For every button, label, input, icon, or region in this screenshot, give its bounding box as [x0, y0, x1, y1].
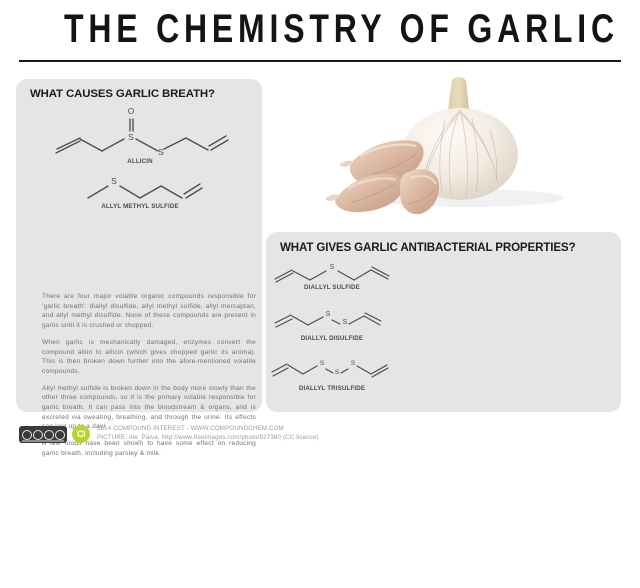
svg-text:S: S	[320, 360, 325, 367]
title-divider	[19, 60, 621, 62]
garlic-photo	[300, 70, 620, 222]
molecule-label-diallyl-sulfide: DIALLYL SULFIDE	[272, 284, 392, 291]
credit-line-2: PICTURE: Ale_Paiva, http://www.freeimage…	[97, 433, 319, 442]
panel-garlic-breath: WHAT CAUSES GARLIC BREATH? O S S ALLICIN	[16, 79, 262, 412]
panel-heading-breath: WHAT CAUSES GARLIC BREATH?	[30, 88, 215, 100]
credit-text: 2014 COMPOUND INTEREST - WWW.COMPOUNDCHE…	[97, 424, 319, 443]
credit-line-1: 2014 COMPOUND INTEREST - WWW.COMPOUNDCHE…	[97, 424, 319, 433]
breath-paragraph-2: When garlic is mechanically damaged, enz…	[42, 338, 256, 377]
molecule-label-diallyl-disulfide: DIALLYL DISULFIDE	[272, 335, 392, 342]
molecule-label-allyl-methyl-sulfide: ALLYL METHYL SULFIDE	[60, 203, 220, 210]
molecule-diallyl-disulfide: S S DIALLYL DISULFIDE	[272, 308, 392, 346]
svg-text:S: S	[326, 311, 331, 318]
molecule-allicin: O S S ALLICIN	[50, 105, 230, 167]
svg-text:S: S	[343, 319, 348, 326]
compound-interest-logo: CI	[72, 425, 90, 443]
svg-text:S: S	[128, 132, 134, 142]
creative-commons-icon	[19, 426, 67, 443]
svg-text:S: S	[335, 369, 340, 376]
page-title: THE CHEMISTRY OF GARLIC	[64, 6, 576, 52]
molecule-diallyl-sulfide: S DIALLYL SULFIDE	[272, 259, 392, 297]
panel-heading-antibacterial: WHAT GIVES GARLIC ANTIBACTERIAL PROPERTI…	[280, 241, 575, 254]
molecule-label-diallyl-trisulfide: DIALLYL TRISULFIDE	[269, 385, 395, 392]
molecule-label-allicin: ALLICIN	[50, 158, 230, 165]
svg-text:S: S	[330, 264, 335, 271]
page-header: THE CHEMISTRY OF GARLIC	[0, 6, 640, 52]
svg-text:S: S	[351, 360, 356, 367]
svg-text:S: S	[111, 176, 117, 186]
svg-text:O: O	[128, 106, 135, 116]
breath-paragraph-1: There are four major volatile organic co…	[42, 292, 256, 331]
panel-antibacterial: WHAT GIVES GARLIC ANTIBACTERIAL PROPERTI…	[266, 232, 621, 412]
molecule-diallyl-trisulfide: S S S DIALLYL TRISULFIDE	[269, 358, 395, 396]
svg-text:S: S	[158, 147, 164, 157]
molecule-allyl-methyl-sulfide: S ALLYL METHYL SULFIDE	[60, 174, 220, 214]
